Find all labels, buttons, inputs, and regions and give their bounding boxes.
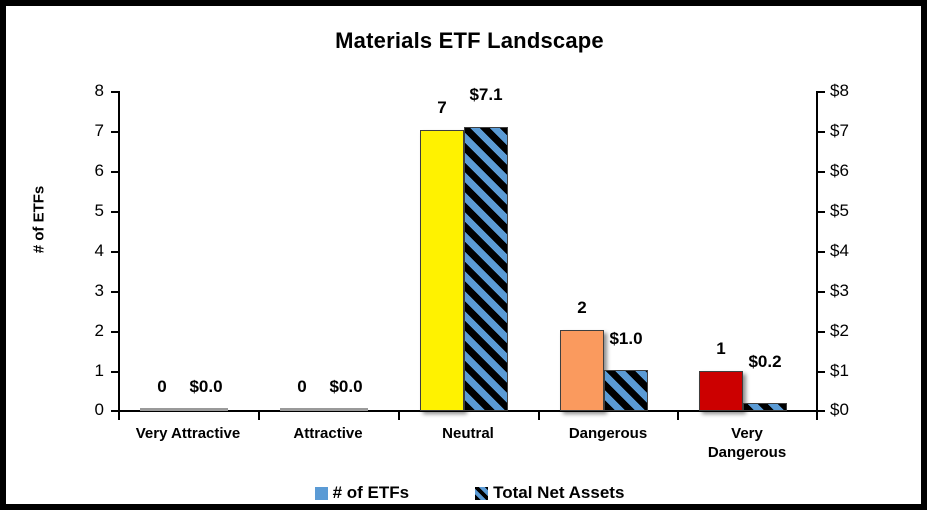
bar-assets-very-attractive[interactable] (184, 408, 228, 411)
legend-swatch-solid-icon (315, 487, 328, 500)
left-tick-0 (111, 410, 118, 412)
left-tick-label-7: 7 (64, 121, 104, 141)
right-tick-label-2: $2 (830, 321, 880, 341)
category-label-line1: Very Attractive (118, 424, 258, 443)
right-tick-label-3: $3 (830, 281, 880, 301)
bar-count-dangerous[interactable] (560, 330, 604, 411)
data-label-assets-neutral: $7.1 (460, 85, 512, 105)
right-tick-1 (818, 371, 825, 373)
right-tick-label-8: $8 (830, 81, 880, 101)
data-label-count-dangerous: 2 (562, 298, 602, 318)
chart-title: Materials ETF Landscape (6, 28, 927, 54)
category-divider-1 (258, 412, 260, 420)
data-label-count-very-dangerous: 1 (701, 339, 741, 359)
right-tick-7 (818, 131, 825, 133)
left-tick-6 (111, 171, 118, 173)
chart-screenshot: Materials ETF Landscape # of ETFs Total … (0, 0, 927, 510)
data-label-assets-attractive: $0.0 (320, 377, 372, 397)
category-label-line1: Very (677, 424, 817, 443)
right-tick-6 (818, 171, 825, 173)
category-label-attractive: Attractive (258, 424, 398, 443)
category-label-line1: Attractive (258, 424, 398, 443)
bar-count-neutral[interactable] (420, 130, 464, 411)
left-tick-7 (111, 131, 118, 133)
left-tick-label-0: 0 (64, 400, 104, 420)
left-tick-1 (111, 371, 118, 373)
data-label-assets-very-attractive: $0.0 (180, 377, 232, 397)
category-label-very-attractive: Very Attractive (118, 424, 258, 443)
left-tick-5 (111, 211, 118, 213)
category-label-line2: Dangerous (677, 443, 817, 462)
bar-assets-neutral[interactable] (464, 127, 508, 411)
data-label-assets-dangerous: $1.0 (600, 329, 652, 349)
right-tick-5 (818, 211, 825, 213)
right-tick-label-6: $6 (830, 161, 880, 181)
chart-legend: # of ETFs Total Net Assets (6, 483, 927, 503)
category-label-very-dangerous: Very Dangerous (677, 424, 817, 462)
left-tick-label-4: 4 (64, 241, 104, 261)
bar-assets-very-dangerous[interactable] (743, 403, 787, 411)
right-tick-3 (818, 291, 825, 293)
bar-count-attractive[interactable] (280, 408, 324, 411)
legend-label-assets: Total Net Assets (493, 483, 624, 503)
left-tick-label-5: 5 (64, 201, 104, 221)
category-divider-0 (118, 412, 120, 420)
left-axis-line (118, 91, 120, 412)
bar-assets-dangerous[interactable] (604, 370, 648, 411)
data-label-count-very-attractive: 0 (142, 377, 182, 397)
left-tick-4 (111, 251, 118, 253)
right-tick-label-5: $5 (830, 201, 880, 221)
left-tick-3 (111, 291, 118, 293)
left-tick-label-3: 3 (64, 281, 104, 301)
category-divider-2 (398, 412, 400, 420)
data-label-assets-very-dangerous: $0.2 (739, 352, 791, 372)
right-tick-4 (818, 251, 825, 253)
bar-count-very-dangerous[interactable] (699, 371, 743, 411)
category-divider-5 (816, 412, 818, 420)
right-axis-title: Total Net Asset (bn) (921, 107, 927, 337)
category-label-line1: Dangerous (538, 424, 678, 443)
right-tick-label-0: $0 (830, 400, 880, 420)
left-tick-2 (111, 331, 118, 333)
legend-item-assets[interactable]: Total Net Assets (475, 483, 624, 503)
bar-count-very-attractive[interactable] (140, 408, 184, 411)
left-tick-8 (111, 91, 118, 93)
right-tick-label-4: $4 (830, 241, 880, 261)
left-tick-label-8: 8 (64, 81, 104, 101)
left-tick-label-2: 2 (64, 321, 104, 341)
right-tick-label-7: $7 (830, 121, 880, 141)
category-label-line1: Neutral (398, 424, 538, 443)
right-tick-label-1: $1 (830, 361, 880, 381)
legend-swatch-hatched-icon (475, 487, 488, 500)
category-divider-4 (677, 412, 679, 420)
legend-label-etfs: # of ETFs (333, 483, 410, 503)
category-label-dangerous: Dangerous (538, 424, 678, 443)
category-divider-3 (538, 412, 540, 420)
data-label-count-neutral: 7 (422, 98, 462, 118)
right-tick-2 (818, 331, 825, 333)
left-tick-label-6: 6 (64, 161, 104, 181)
category-label-neutral: Neutral (398, 424, 538, 443)
right-tick-0 (818, 410, 825, 412)
bar-assets-attractive[interactable] (324, 408, 368, 411)
data-label-count-attractive: 0 (282, 377, 322, 397)
left-axis-title: # of ETFs (31, 150, 48, 290)
legend-item-etfs[interactable]: # of ETFs (315, 483, 410, 503)
left-tick-label-1: 1 (64, 361, 104, 381)
right-tick-8 (818, 91, 825, 93)
